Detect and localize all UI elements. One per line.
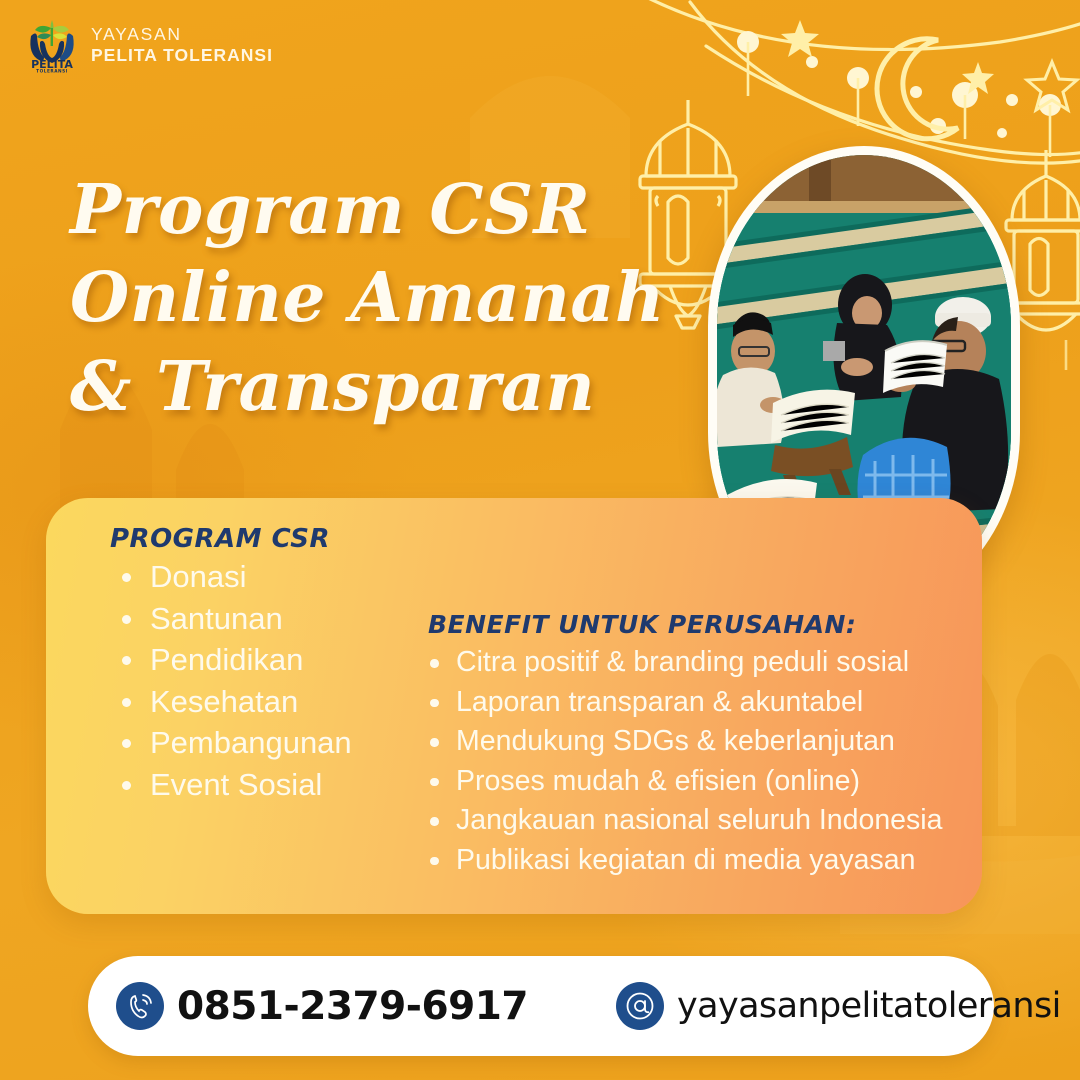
list-item: Event Sosial <box>108 764 418 806</box>
poster-canvas: PELITA TOLERANSI YAYASAN PELITA TOLERANS… <box>0 0 1080 1080</box>
program-list: Donasi Santunan Pendidikan Kesehatan Pem… <box>108 556 418 805</box>
list-item: Mendukung SDGs & keberlanjutan <box>418 722 978 762</box>
instagram-contact[interactable]: yayasanpelitatoleransi <box>616 982 1061 1030</box>
instagram-handle: yayasanpelitatoleransi <box>677 986 1061 1026</box>
brand-line-1: YAYASAN <box>91 26 273 44</box>
phone-number: 0851-2379-6917 <box>177 984 528 1029</box>
sprout-in-hands-logo-icon: PELITA TOLERANSI <box>24 16 80 74</box>
list-item: Laporan transparan & akuntabel <box>418 683 978 723</box>
list-item: Proses mudah & efisien (online) <box>418 762 978 802</box>
headline-line-3: & Transparan <box>70 343 670 431</box>
list-item: Pembangunan <box>108 722 418 764</box>
list-item: Donasi <box>108 556 418 598</box>
headline-line-1: Program CSR <box>70 166 670 254</box>
list-item: Pendidikan <box>108 639 418 681</box>
at-sign-icon <box>616 982 664 1030</box>
benefit-list: Citra positif & branding peduli sosial L… <box>418 643 978 880</box>
brand-line-2: PELITA TOLERANSI <box>91 47 273 65</box>
list-item: Publikasi kegiatan di media yayasan <box>418 841 978 881</box>
phone-handset-icon <box>116 982 164 1030</box>
phone-contact[interactable]: 0851-2379-6917 <box>116 982 528 1030</box>
list-item: Kesehatan <box>108 681 418 723</box>
benefit-column: BENEFIT UNTUK PERUSAHAN: Citra positif &… <box>418 610 978 880</box>
list-item: Jangkauan nasional seluruh Indonesia <box>418 801 978 841</box>
headline-line-2: Online Amanah <box>70 254 670 342</box>
program-column: PROGRAM CSR Donasi Santunan Pendidikan K… <box>108 524 418 805</box>
program-title: PROGRAM CSR <box>110 524 418 554</box>
crescent-moon-icon <box>877 39 958 139</box>
list-item: Citra positif & branding peduli sosial <box>418 643 978 683</box>
contact-bar: 0851-2379-6917 yayasanpelitatoleransi <box>88 956 994 1056</box>
info-card: PROGRAM CSR Donasi Santunan Pendidikan K… <box>46 498 982 914</box>
star-icon <box>781 20 994 94</box>
svg-text:TOLERANSI: TOLERANSI <box>36 69 68 75</box>
benefit-title: BENEFIT UNTUK PERUSAHAN: <box>428 610 978 639</box>
brand-logo: PELITA TOLERANSI YAYASAN PELITA TOLERANS… <box>24 16 273 74</box>
page-title: Program CSR Online Amanah & Transparan <box>70 166 670 431</box>
list-item: Santunan <box>108 598 418 640</box>
